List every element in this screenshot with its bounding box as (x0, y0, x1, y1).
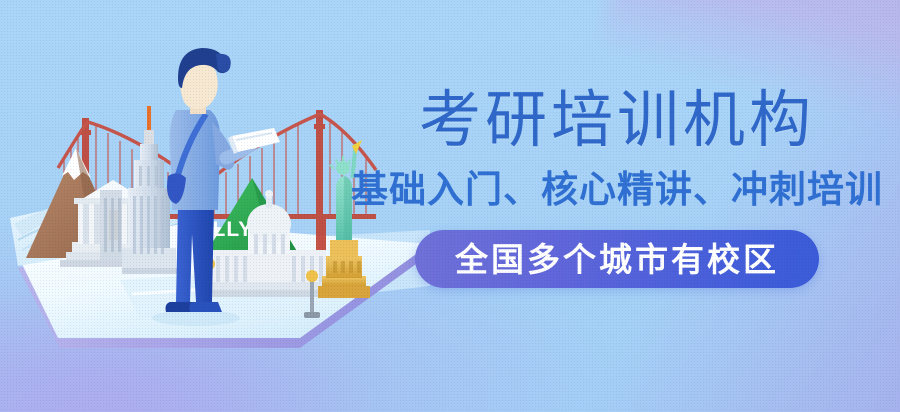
banner-copy: 考研培训机构 基础入门、核心精讲、冲刺培训 全国多个城市有校区 (352, 88, 882, 338)
banner-subtitle: 基础入门、核心精讲、冲刺培训 (351, 170, 883, 211)
campus-coverage-cta-label: 全国多个城市有校区 (455, 243, 779, 276)
banner-title: 考研培训机构 (419, 88, 815, 154)
small-tower-icon (100, 190, 122, 260)
campus-coverage-cta-button[interactable]: 全国多个城市有校区 (415, 230, 819, 288)
promo-banner: LLYWO (0, 0, 900, 412)
